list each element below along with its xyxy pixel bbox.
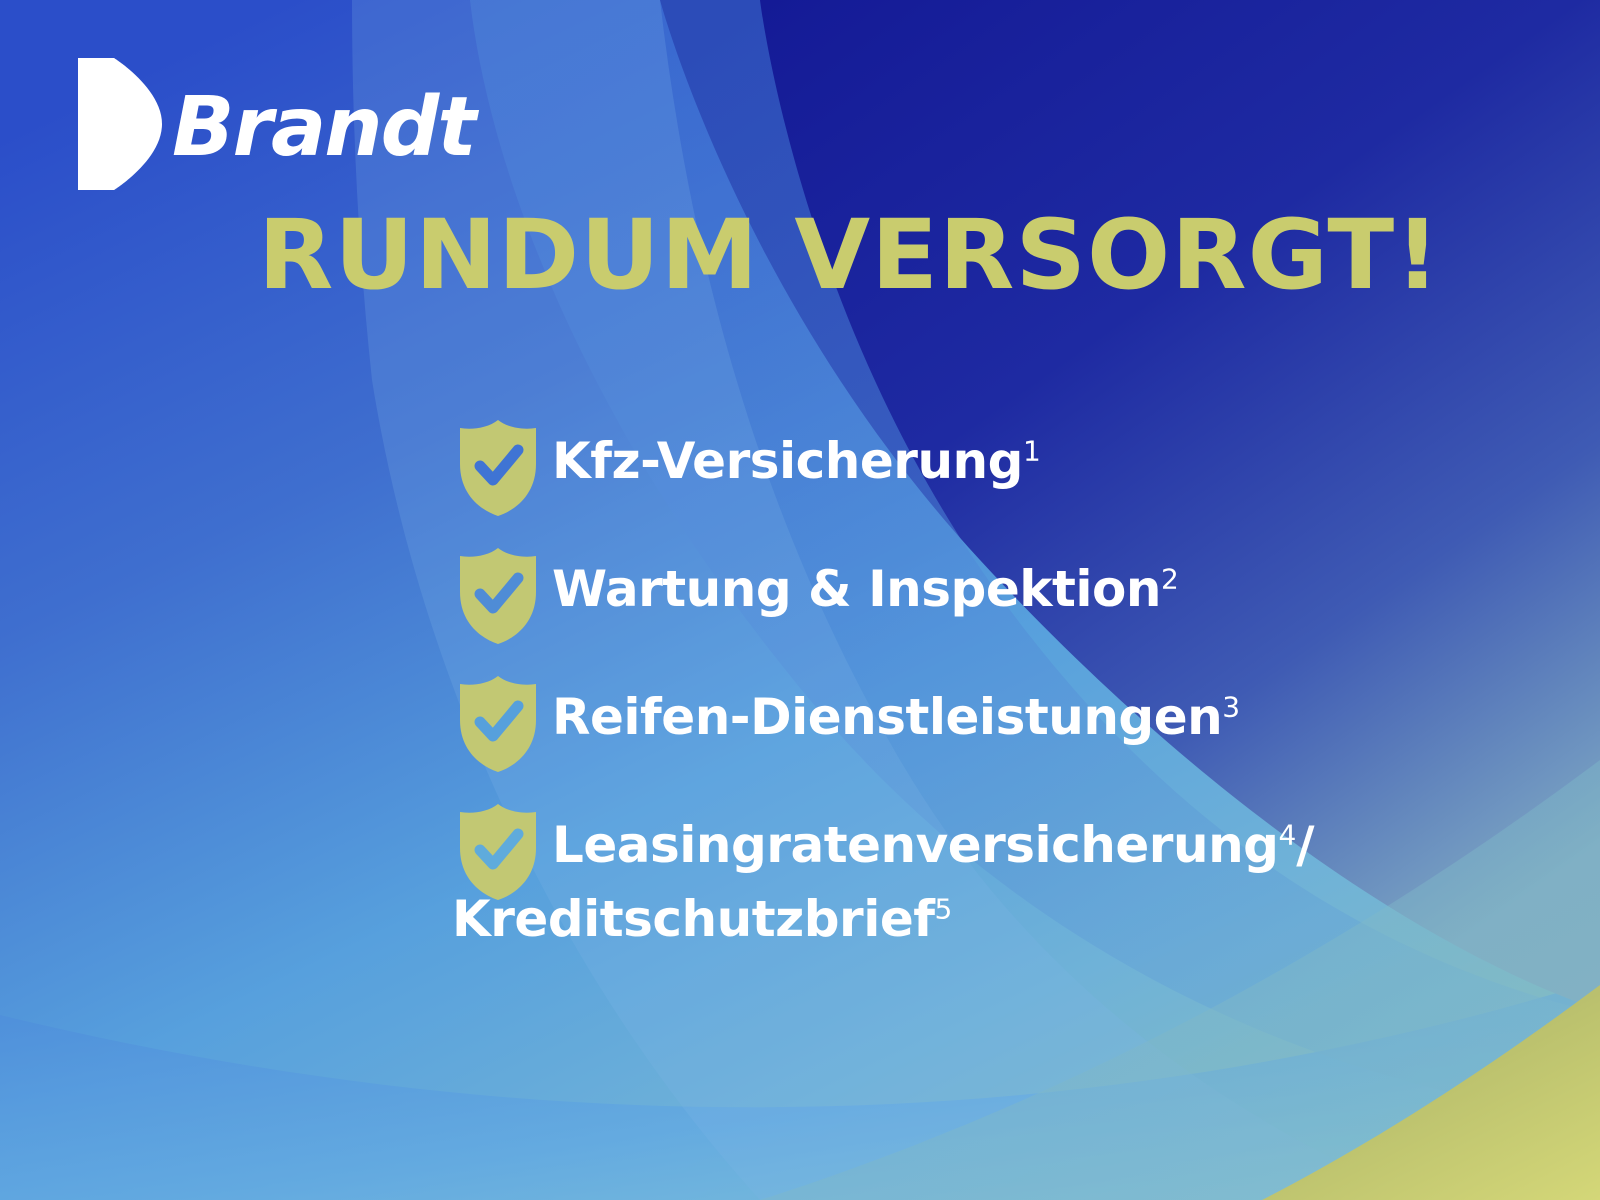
list-item: Leasingratenversicherung4/ Kreditschutzb… — [452, 802, 1552, 956]
benefit-label-text: Leasingratenversicherung — [552, 816, 1278, 874]
benefit-label: Leasingratenversicherung4/ Kreditschutzb… — [552, 802, 1314, 956]
benefit-label: Wartung & Inspektion2 — [552, 546, 1179, 626]
benefit-label-line2: Kreditschutzbrief5 — [452, 882, 1314, 956]
benefit-label-text: Kfz-Versicherung — [552, 432, 1023, 490]
brandt-bracket-mark-icon — [78, 58, 162, 190]
benefit-separator: / — [1296, 816, 1314, 874]
benefit-label: Reifen-Dienstleistungen3 — [552, 674, 1240, 754]
footnote-marker: 2 — [1161, 562, 1179, 595]
footnote-marker: 4 — [1278, 818, 1296, 851]
list-item: Wartung & Inspektion2 — [452, 546, 1552, 646]
benefit-label-text: Reifen-Dienstleistungen — [552, 688, 1222, 746]
benefit-label-text: Wartung & Inspektion — [552, 560, 1161, 618]
shield-check-icon — [452, 546, 544, 646]
shield-check-icon — [452, 674, 544, 774]
benefit-list: Kfz-Versicherung1 Wartung & Inspektion2 — [452, 418, 1552, 984]
footnote-marker-2: 5 — [935, 892, 953, 925]
shield-check-icon — [452, 802, 544, 902]
page-title: RUNDUM VERSORGT! — [258, 207, 1441, 305]
list-item: Reifen-Dienstleistungen3 — [452, 674, 1552, 774]
list-item: Kfz-Versicherung1 — [452, 418, 1552, 518]
promo-poster: Brandt RUNDUM VERSORGT! Kfz-Versicherung… — [0, 0, 1600, 1200]
footnote-marker: 1 — [1023, 434, 1041, 467]
brand-name: Brandt — [172, 87, 475, 169]
footnote-marker: 3 — [1222, 690, 1240, 723]
benefit-label: Kfz-Versicherung1 — [552, 418, 1041, 498]
shield-check-icon — [452, 418, 544, 518]
brand-logo: Brandt — [78, 58, 475, 190]
